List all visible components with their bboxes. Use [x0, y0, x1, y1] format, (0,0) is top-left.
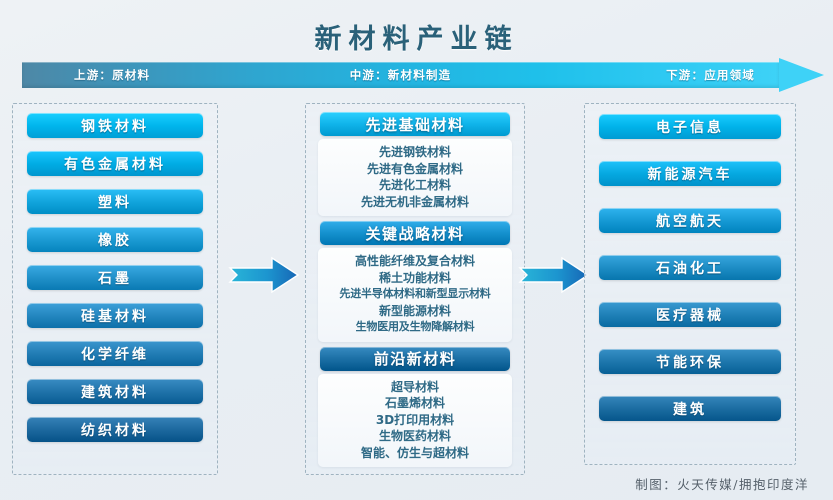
midstream-panel: 先进基础材料先进钢铁材料先进有色金属材料先进化工材料先进无机非金属材料关键战略材… — [305, 103, 525, 475]
banner-labels: 上游：原材料 中游：新材料制造 下游：应用领域 — [22, 62, 779, 88]
midstream-section-body-1: 高性能纤维及复合材料稀土功能材料先进半导体材料和新型显示材料新型能源材料生物医用… — [318, 248, 512, 342]
midstream-item: 稀土功能材料 — [320, 270, 510, 287]
downstream-item-label: 新能源汽车 — [648, 164, 733, 184]
banner-label-downstream: 下游：应用领域 — [666, 67, 755, 83]
upstream-item-2[interactable]: 塑料 — [27, 189, 203, 214]
midstream-item: 智能、仿生与超材料 — [320, 445, 510, 462]
downstream-item-label: 医疗器械 — [656, 305, 724, 325]
upstream-item-label: 橡胶 — [98, 230, 132, 250]
upstream-item-label: 化学纤维 — [81, 344, 149, 364]
midstream-section-header-label: 前沿新材料 — [374, 348, 457, 369]
downstream-item-1[interactable]: 新能源汽车 — [599, 161, 781, 186]
flow-arrow-midstream-to-downstream-icon — [518, 255, 590, 295]
midstream-item: 石墨烯材料 — [320, 395, 510, 412]
banner-label-upstream: 上游：原材料 — [74, 67, 150, 83]
upstream-item-1[interactable]: 有色金属材料 — [27, 151, 203, 176]
downstream-item-label: 航空航天 — [656, 211, 724, 231]
downstream-item-label: 电子信息 — [656, 117, 724, 137]
upstream-item-label: 石墨 — [98, 268, 132, 288]
upstream-item-7[interactable]: 建筑材料 — [27, 379, 203, 404]
page-title: 新材料产业链 — [0, 0, 833, 56]
flow-arrow-upstream-to-midstream-icon — [228, 255, 300, 295]
midstream-section-header-label: 关键战略材料 — [365, 223, 464, 244]
midstream-item: 生物医药材料 — [320, 428, 510, 445]
upstream-item-8[interactable]: 纺织材料 — [27, 417, 203, 442]
value-chain-banner: 上游：原材料 中游：新材料制造 下游：应用领域 — [22, 62, 822, 88]
upstream-item-5[interactable]: 硅基材料 — [27, 303, 203, 328]
upstream-item-3[interactable]: 橡胶 — [27, 227, 203, 252]
midstream-item: 3D打印用材料 — [320, 412, 510, 429]
credit-text: 制图：火天传媒/拥抱印度洋 — [635, 474, 809, 493]
midstream-item: 先进化工材料 — [320, 177, 510, 194]
banner-label-midstream: 中游：新材料制造 — [350, 67, 452, 83]
midstream-item: 先进有色金属材料 — [320, 161, 510, 178]
downstream-item-0[interactable]: 电子信息 — [599, 114, 781, 139]
downstream-item-label: 节能环保 — [656, 352, 724, 372]
midstream-section-body-2: 超导材料石墨烯材料3D打印用材料生物医药材料智能、仿生与超材料 — [318, 374, 512, 468]
upstream-item-label: 钢铁材料 — [81, 116, 149, 136]
upstream-item-label: 纺织材料 — [81, 420, 149, 440]
downstream-panel: 电子信息新能源汽车航空航天石油化工医疗器械节能环保建筑 — [584, 103, 796, 465]
downstream-item-5[interactable]: 节能环保 — [599, 349, 781, 374]
downstream-item-list: 电子信息新能源汽车航空航天石油化工医疗器械节能环保建筑 — [585, 104, 795, 421]
upstream-item-0[interactable]: 钢铁材料 — [27, 113, 203, 138]
upstream-item-label: 塑料 — [98, 192, 132, 212]
upstream-item-list: 钢铁材料有色金属材料塑料橡胶石墨硅基材料化学纤维建筑材料纺织材料 — [13, 104, 217, 442]
upstream-panel: 钢铁材料有色金属材料塑料橡胶石墨硅基材料化学纤维建筑材料纺织材料 — [12, 103, 218, 475]
midstream-section-header-1[interactable]: 关键战略材料 — [320, 221, 510, 245]
upstream-item-6[interactable]: 化学纤维 — [27, 341, 203, 366]
downstream-item-2[interactable]: 航空航天 — [599, 208, 781, 233]
banner-arrow-tip-icon — [779, 58, 824, 92]
midstream-item: 生物医用及生物降解材料 — [320, 319, 510, 336]
upstream-item-4[interactable]: 石墨 — [27, 265, 203, 290]
midstream-item: 新型能源材料 — [320, 303, 510, 320]
midstream-section-header-2[interactable]: 前沿新材料 — [320, 347, 510, 371]
midstream-item: 先进半导体材料和新型显示材料 — [320, 286, 510, 303]
downstream-item-6[interactable]: 建筑 — [599, 396, 781, 421]
midstream-item: 高性能纤维及复合材料 — [320, 253, 510, 270]
midstream-section-list: 先进基础材料先进钢铁材料先进有色金属材料先进化工材料先进无机非金属材料关键战略材… — [306, 104, 524, 467]
upstream-item-label: 硅基材料 — [81, 306, 149, 326]
midstream-item: 先进无机非金属材料 — [320, 194, 510, 211]
downstream-item-label: 石油化工 — [656, 258, 724, 278]
upstream-item-label: 有色金属材料 — [64, 154, 166, 174]
midstream-section-header-label: 先进基础材料 — [365, 114, 464, 135]
upstream-item-label: 建筑材料 — [81, 382, 149, 402]
downstream-item-4[interactable]: 医疗器械 — [599, 302, 781, 327]
midstream-item: 超导材料 — [320, 379, 510, 396]
midstream-section-header-0[interactable]: 先进基础材料 — [320, 112, 510, 136]
downstream-item-label: 建筑 — [673, 399, 707, 419]
midstream-section-body-0: 先进钢铁材料先进有色金属材料先进化工材料先进无机非金属材料 — [318, 139, 512, 216]
midstream-item: 先进钢铁材料 — [320, 144, 510, 161]
downstream-item-3[interactable]: 石油化工 — [599, 255, 781, 280]
value-chain-columns: 钢铁材料有色金属材料塑料橡胶石墨硅基材料化学纤维建筑材料纺织材料 先进基础材料先… — [0, 103, 833, 478]
